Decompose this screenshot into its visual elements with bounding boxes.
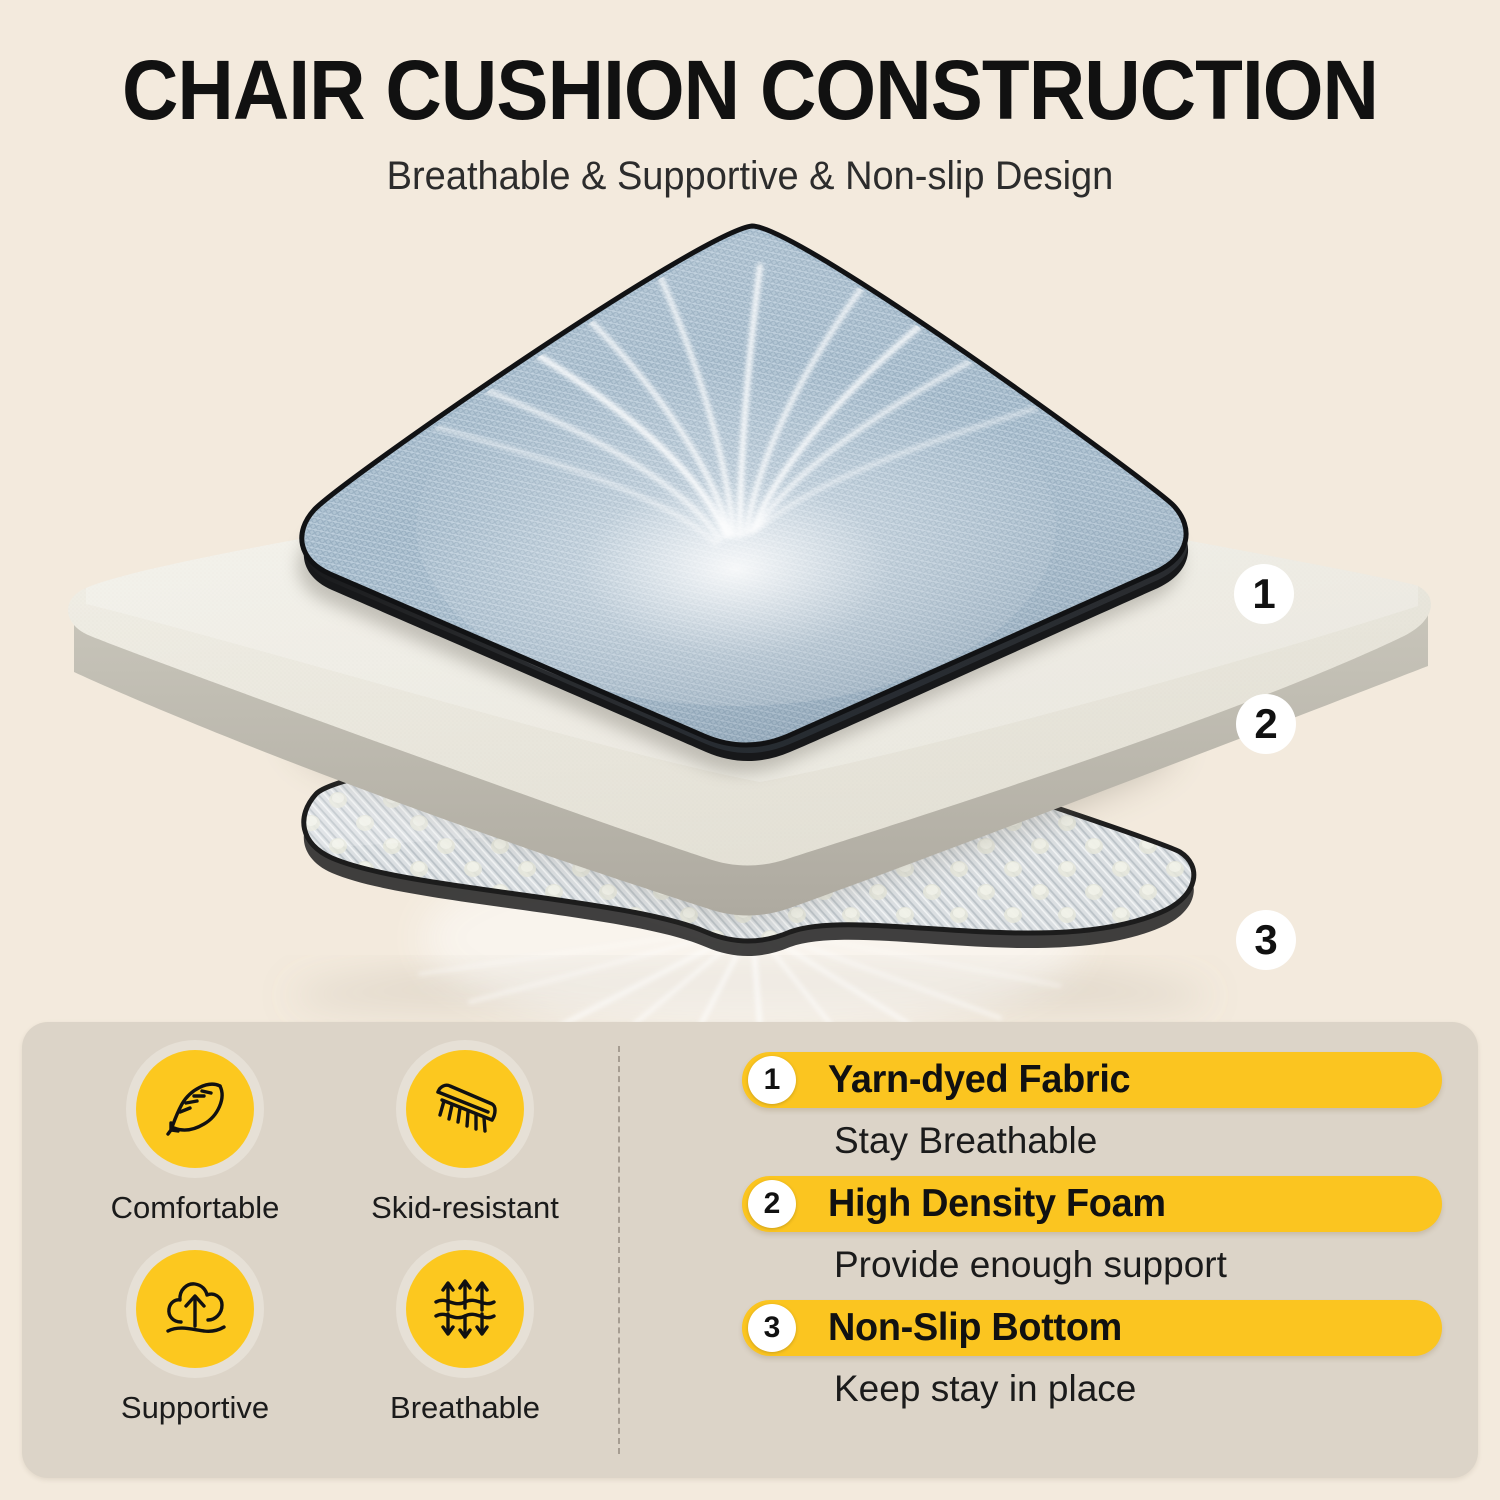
page-title: CHAIR CUSHION CONSTRUCTION (53, 48, 1448, 132)
svg-text:1: 1 (1252, 570, 1275, 617)
feature-skid-resistant: Skid-resistant (330, 1050, 600, 1250)
cloud-uparrow-icon (136, 1250, 254, 1368)
pill-title: Non-Slip Bottom (828, 1306, 1122, 1350)
feature-description: Stay Breathable (742, 1120, 1442, 1162)
layer-badge-1: 1 (1234, 564, 1294, 624)
exploded-cushion-illustration: 1 2 3 (0, 196, 1500, 1026)
feature-breathable: Breathable (330, 1250, 600, 1450)
feature-pill-3: 3 Non-Slip Bottom (742, 1300, 1442, 1356)
list-item: 2 High Density Foam Provide enough suppo… (742, 1176, 1442, 1286)
list-item: 3 Non-Slip Bottom Keep stay in place (742, 1300, 1442, 1410)
panel-divider (618, 1046, 620, 1454)
header: CHAIR CUSHION CONSTRUCTION Breathable & … (0, 0, 1500, 199)
feature-comfortable: Comfortable (60, 1050, 330, 1250)
pill-title: High Density Foam (828, 1182, 1166, 1226)
feature-supportive: Supportive (60, 1250, 330, 1450)
numbered-feature-list: 1 Yarn-dyed Fabric Stay Breathable 2 Hig… (742, 1052, 1442, 1424)
list-item: 1 Yarn-dyed Fabric Stay Breathable (742, 1052, 1442, 1162)
feature-icon-grid: Comfortable Skid-resistant Supportive (60, 1050, 600, 1450)
feature-label: Supportive (121, 1390, 269, 1426)
grip-bristles-icon (406, 1050, 524, 1168)
svg-text:2: 2 (1254, 700, 1277, 747)
layer-badge-2: 2 (1236, 694, 1296, 754)
feature-description: Provide enough support (742, 1244, 1442, 1286)
feature-pill-2: 2 High Density Foam (742, 1176, 1442, 1232)
page-subtitle: Breathable & Supportive & Non-slip Desig… (38, 154, 1463, 199)
pill-badge: 3 (748, 1304, 796, 1352)
feature-label: Skid-resistant (371, 1190, 559, 1226)
airflow-waves-icon (406, 1250, 524, 1368)
feature-pill-1: 1 Yarn-dyed Fabric (742, 1052, 1442, 1108)
feather-icon (136, 1050, 254, 1168)
pill-title: Yarn-dyed Fabric (828, 1058, 1130, 1102)
feature-label: Comfortable (111, 1190, 280, 1226)
feature-description: Keep stay in place (742, 1368, 1442, 1410)
svg-text:3: 3 (1254, 916, 1277, 963)
pill-badge: 2 (748, 1180, 796, 1228)
pill-badge: 1 (748, 1056, 796, 1104)
feature-label: Breathable (390, 1390, 540, 1426)
layer-badge-3: 3 (1236, 910, 1296, 970)
